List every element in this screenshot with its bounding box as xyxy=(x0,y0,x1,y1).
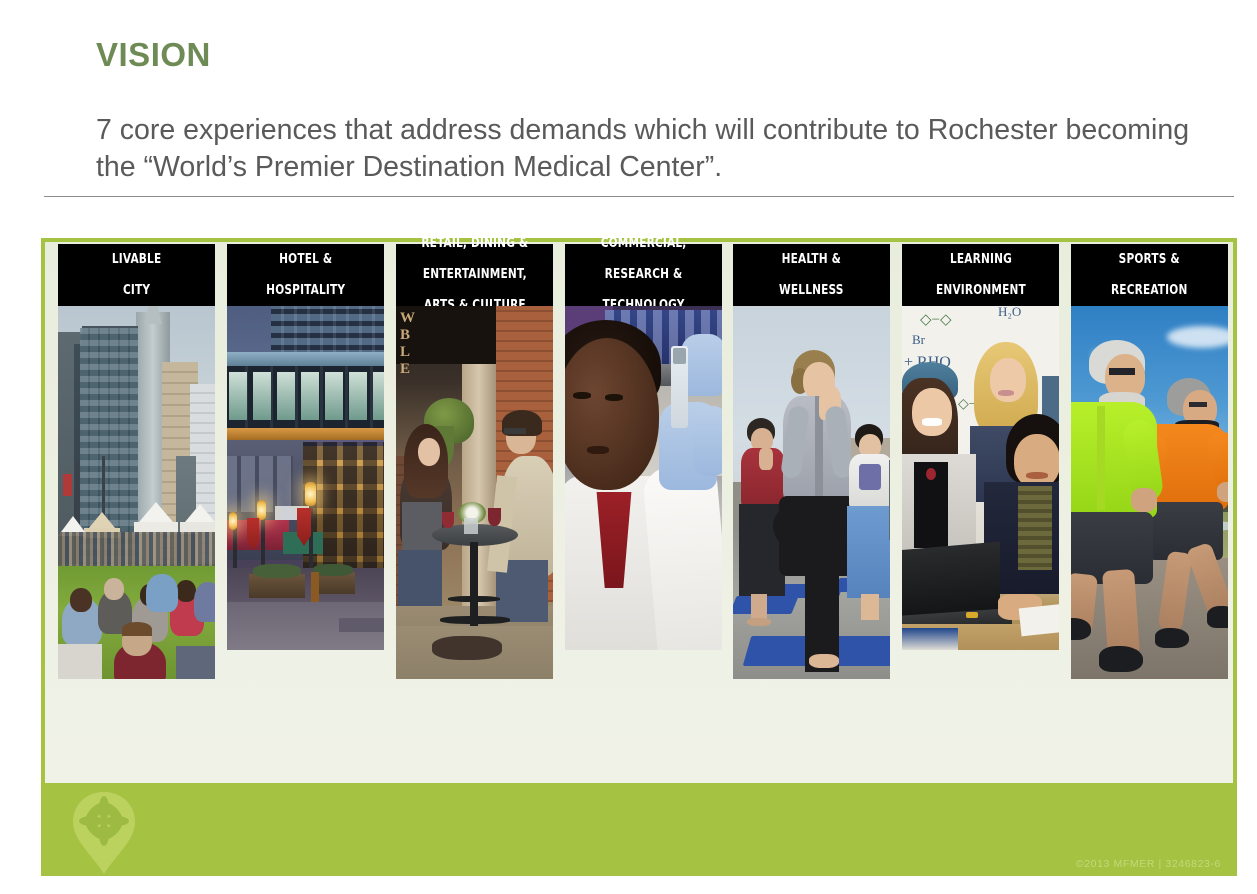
column-photo-sports-recreation xyxy=(1071,306,1228,679)
column-label-line: WELLNESS xyxy=(779,283,844,299)
column-label-line: LEARNING xyxy=(936,252,1026,268)
footer-bar: ©2013 MFMER | 3246823-6 xyxy=(41,783,1237,876)
column-photo-livable-city xyxy=(58,306,215,679)
column-photo-health-wellness xyxy=(733,306,890,679)
column-photo-hotel-hospitality xyxy=(227,306,384,650)
column-header-health-wellness: HEALTH & WELLNESS xyxy=(733,244,890,306)
column-header-livable-city: LIVABLE CITY xyxy=(58,244,215,306)
column-label-line: HEALTH & xyxy=(779,252,844,268)
experience-column-sports-recreation[interactable]: SPORTS & RECREATION xyxy=(1071,244,1228,679)
column-label-line: RECREATION xyxy=(1111,283,1188,299)
experience-columns: LIVABLE CITY xyxy=(41,238,1237,783)
experience-column-hotel-hospitality[interactable]: HOTEL & HOSPITALITY xyxy=(227,244,384,650)
mayo-clinic-pin-logo-icon xyxy=(67,790,141,876)
column-photo-retail-dining: WBLE xyxy=(396,306,553,679)
column-photo-commercial-research xyxy=(565,306,722,650)
experience-column-commercial-research[interactable]: COMMERCIAL, RESEARCH & TECHNOLOGY xyxy=(565,244,722,650)
column-label-line: SPORTS & xyxy=(1111,252,1188,268)
title-divider xyxy=(44,196,1234,197)
column-header-learning-environment: LEARNING ENVIRONMENT xyxy=(902,244,1059,306)
experience-column-learning-environment[interactable]: LEARNING ENVIRONMENT Br + RHO ◇−◇ ◇−◇ H₂… xyxy=(902,244,1059,650)
column-label-line: RETAIL, DINING & xyxy=(421,236,528,252)
column-label-line: CITY xyxy=(112,283,161,299)
column-label-line: COMMERCIAL, xyxy=(601,236,687,252)
column-label-line: HOSPITALITY xyxy=(266,283,345,299)
experience-column-retail-dining[interactable]: RETAIL, DINING & ENTERTAINMENT, ARTS & C… xyxy=(396,244,553,679)
column-label-line: HOTEL & xyxy=(266,252,345,268)
column-header-commercial-research: COMMERCIAL, RESEARCH & TECHNOLOGY xyxy=(565,244,722,306)
column-label-line: RESEARCH & xyxy=(601,267,687,283)
column-header-hotel-hospitality: HOTEL & HOSPITALITY xyxy=(227,244,384,306)
column-label-line: ENTERTAINMENT, xyxy=(421,267,528,283)
page-title: VISION xyxy=(96,36,211,74)
column-label-line: LIVABLE xyxy=(112,252,161,268)
footer-credit: ©2013 MFMER | 3246823-6 xyxy=(1076,858,1221,870)
experience-column-livable-city[interactable]: LIVABLE CITY xyxy=(58,244,215,679)
experience-column-health-wellness[interactable]: HEALTH & WELLNESS xyxy=(733,244,890,679)
slide-subtitle: 7 core experiences that address demands … xyxy=(96,112,1226,186)
column-header-retail-dining: RETAIL, DINING & ENTERTAINMENT, ARTS & C… xyxy=(396,244,553,306)
column-label-line: ENVIRONMENT xyxy=(936,283,1026,299)
column-photo-learning-environment: Br + RHO ◇−◇ ◇−◇ H₂O xyxy=(902,306,1059,650)
column-header-sports-recreation: SPORTS & RECREATION xyxy=(1071,244,1228,306)
experiences-panel: LIVABLE CITY xyxy=(41,238,1237,783)
